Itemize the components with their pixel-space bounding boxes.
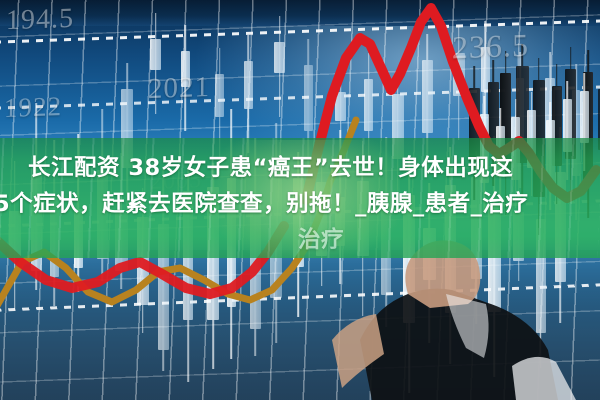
- news-thumbnail-image: 194.5192220212005236.5236.5 长江配资 38岁女子患“…: [0, 0, 600, 400]
- chart-value-label: 236.5: [452, 27, 529, 67]
- candlestick: [244, 35, 253, 153]
- candlestick: [274, 16, 285, 117]
- headline-line-2: 5个症状，赶紧去医院查查，别拖！_胰腺_患者_治疗: [0, 186, 528, 222]
- headline-line-1: 长江配资 38岁女子患“癌王”去世！身体出现这: [28, 150, 513, 186]
- chart-value-label: 194.5: [6, 3, 74, 37]
- chart-value-label: 2021: [148, 71, 210, 106]
- chart-value-label: 1922: [4, 91, 62, 124]
- headline-line-3: 治疗: [298, 222, 344, 258]
